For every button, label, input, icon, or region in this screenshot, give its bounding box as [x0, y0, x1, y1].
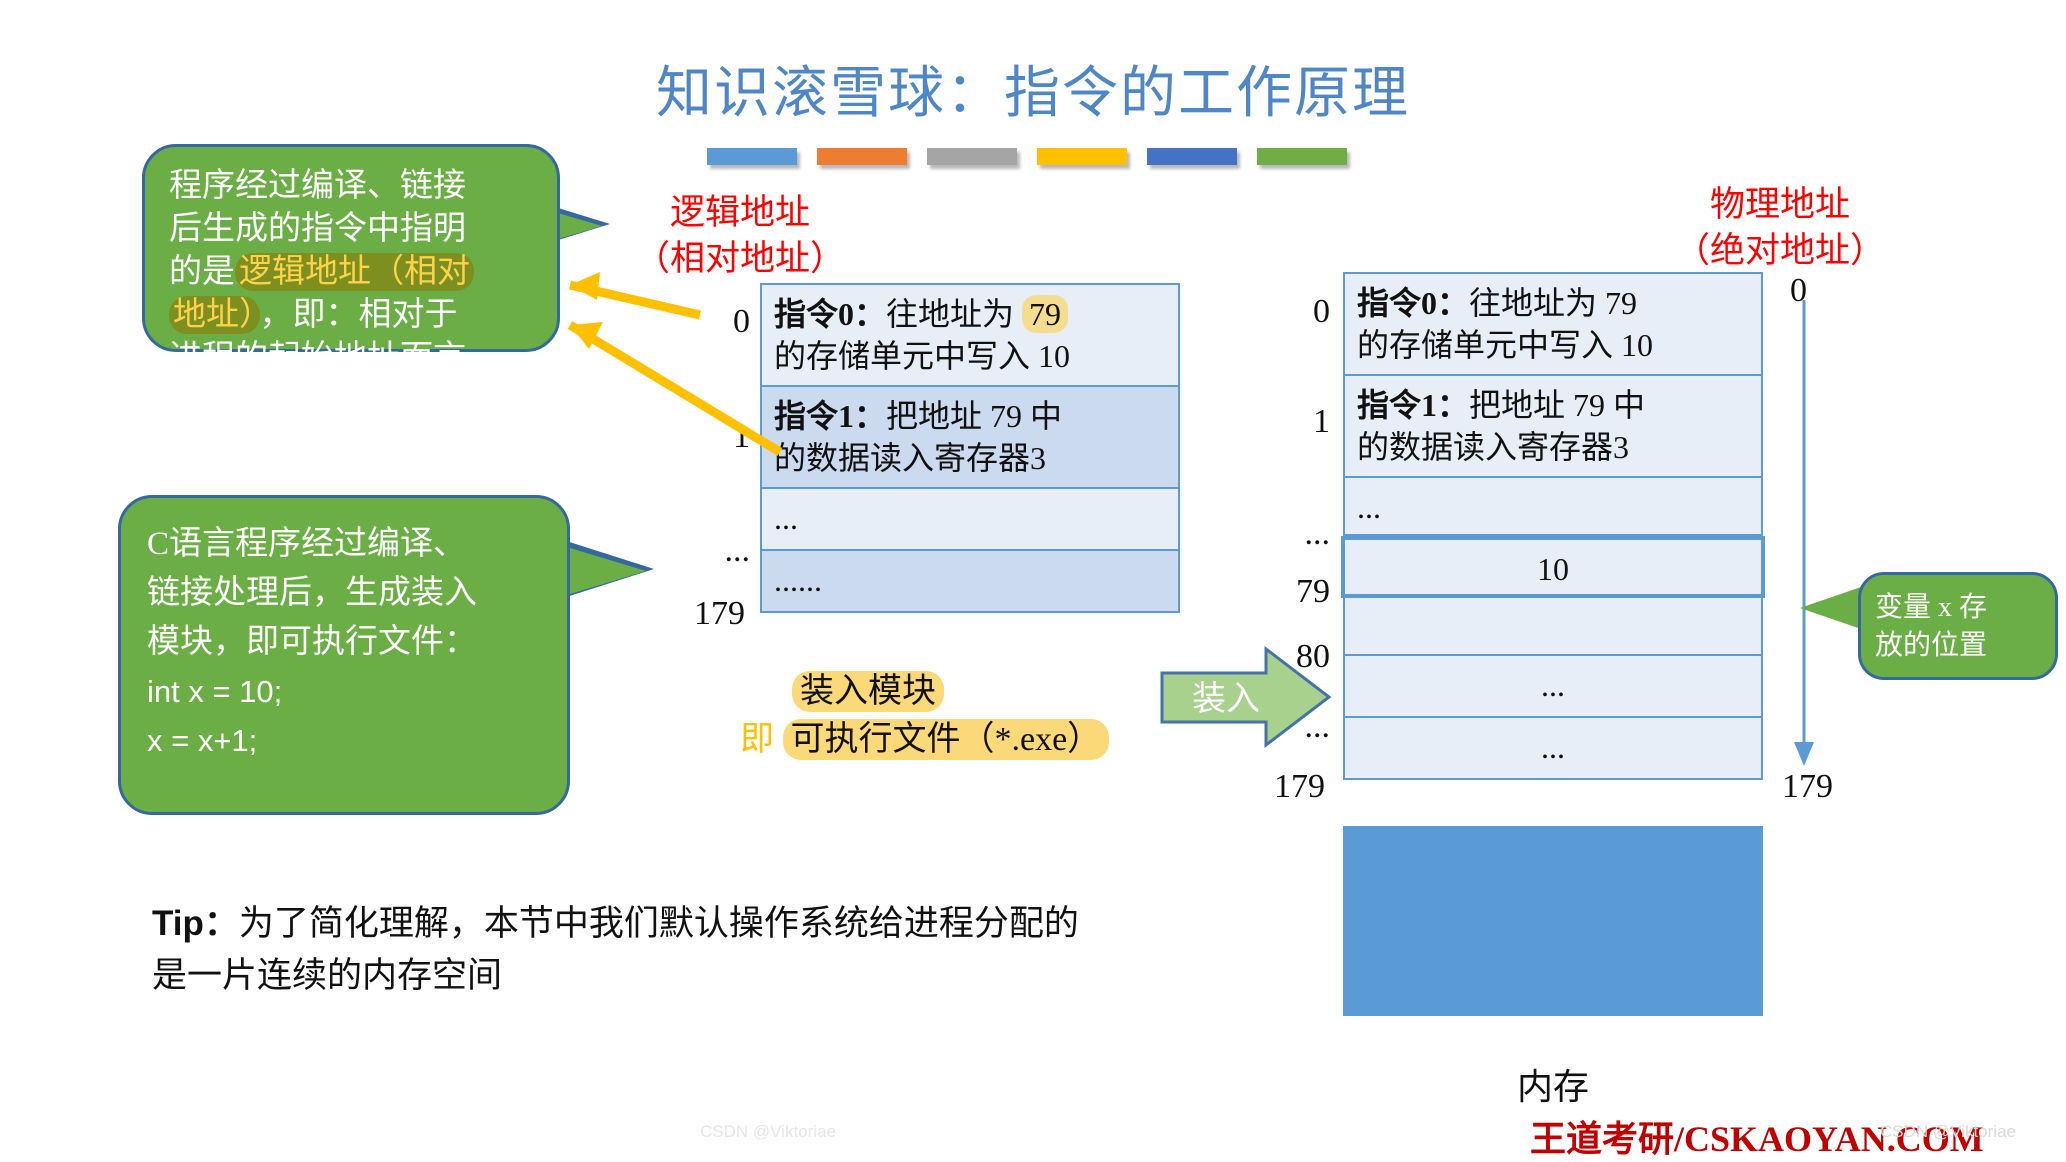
physical-index-79: 79 [1240, 573, 1330, 611]
logical-row0-line1: 指令0：往地址为 79 [774, 293, 1166, 335]
callout-clang-line3: 模块，即可执行文件： [147, 618, 557, 667]
callout-logical-address: 程序经过编译、链接 后生成的指令中指明 的是逻辑地址（相对 地址），即：相对于 … [142, 144, 560, 352]
physical-memory-table: 指令0：往地址为 79 的存储单元中写入 10 指令1：把地址 79 中 的数据… [1343, 272, 1763, 780]
address-range-arrow [1780, 300, 1840, 770]
physical-index-dots1: ... [1240, 515, 1330, 553]
tip-line2: 是一片连续的内存空间 [152, 950, 1212, 1002]
address-range-arrowhead [1794, 742, 1814, 766]
load-module-ji: 即 [740, 721, 774, 758]
bar-blue-light [707, 148, 797, 165]
callout-clang-code2: x = x+1; [147, 716, 557, 765]
physical-row1-instr: 指令1： [1357, 387, 1469, 423]
address-marker-bottom: 179 [1782, 768, 1833, 806]
physical-row3-value: 10 [1357, 548, 1749, 590]
label-physical-address: 物理地址 （绝对地址） [1660, 182, 1900, 274]
logical-row1-line1: 指令1：把地址 79 中 [774, 395, 1166, 437]
physical-index-0: 0 [1240, 293, 1330, 331]
page-title: 知识滚雪球：指令的工作原理 [0, 48, 2066, 129]
logical-row1-instr: 指令1： [774, 398, 886, 434]
physical-row0-instr: 指令0： [1357, 285, 1469, 321]
callout-logical-line1: 程序经过编译、链接 [169, 165, 549, 208]
physical-index-80: 80 [1240, 638, 1330, 676]
logical-row1-line2: 的数据读入寄存器3 [774, 437, 1166, 479]
logical-row2-text: ... [774, 497, 1166, 539]
label-physical-address-line1: 物理地址 [1660, 182, 1900, 228]
physical-row0-text-a: 往地址为 79 [1469, 285, 1637, 321]
callout-variable-tail [1800, 586, 1864, 630]
physical-row0-line2: 的存储单元中写入 10 [1357, 324, 1749, 366]
logical-address-table: 指令0：往地址为 79 的存储单元中写入 10 指令1：把地址 79 中 的数据… [760, 283, 1180, 613]
physical-row6-text: ... [1357, 726, 1749, 768]
callout-logical-highlight-b: 地址） [169, 296, 260, 334]
table-row: ...... [760, 551, 1180, 613]
table-row: 指令1：把地址 79 中 的数据读入寄存器3 [1343, 376, 1763, 478]
physical-index-1: 1 [1240, 403, 1330, 441]
load-module-text: 装入模块 即 可执行文件（*.exe） [740, 668, 1200, 764]
table-row: 指令0：往地址为 79 的存储单元中写入 10 [1343, 272, 1763, 376]
load-module-line2: 即 可执行文件（*.exe） [740, 716, 1200, 764]
label-physical-address-line2: （绝对地址） [1660, 228, 1900, 274]
callout-logical-line3-prefix: 的是 [169, 254, 235, 290]
load-module-line1: 装入模块 [792, 668, 1200, 716]
table-row: ... [1343, 656, 1763, 718]
callout-clang-text: C语言程序经过编译、 链接处理后，生成装入 模块，即可执行文件： int x =… [147, 520, 557, 765]
logical-index-179: 179 [655, 595, 745, 633]
callout-logical-highlight-a: 逻辑地址（相对 [235, 253, 474, 291]
tip-text: Tip：为了简化理解，本节中我们默认操作系统给进程分配的 是一片连续的内存空间 [152, 898, 1212, 1002]
memory-label: 内存 [1343, 1058, 1763, 1110]
logical-row1-text-a: 把地址 79 中 [886, 398, 1062, 434]
logical-row0-highlight: 79 [1022, 295, 1068, 333]
callout-variable-line2: 放的位置 [1875, 627, 2047, 665]
logical-index-0: 0 [660, 303, 750, 341]
bar-green [1257, 148, 1347, 165]
load-module-exe: 可执行文件（*.exe） [783, 719, 1110, 760]
logical-row0-text-a: 往地址为 [886, 296, 1022, 332]
callout-variable-line1: 变量 x 存 [1875, 589, 2047, 627]
callout-clang: C语言程序经过编译、 链接处理后，生成装入 模块，即可执行文件： int x =… [118, 495, 570, 815]
table-row: ... [760, 489, 1180, 551]
callout-logical-line5: 进程的起始地址而言 [169, 337, 549, 380]
label-logical-address: 逻辑地址 （相对地址） [620, 190, 860, 282]
bar-blue-dark [1147, 148, 1237, 165]
callout-logical-line6: 的地址 [169, 380, 549, 423]
callout-clang-code1: int x = 10; [147, 667, 557, 716]
watermark-faint-secondary: CSDN @Viktoriae [700, 1122, 836, 1142]
yellow-arrow-head-2 [570, 322, 603, 349]
logical-index-1: 1 [660, 418, 750, 456]
memory-free-block [1343, 826, 1763, 1016]
tip-line1-text: 为了简化理解，本节中我们默认操作系统给进程分配的 [239, 904, 1079, 943]
table-row [1343, 598, 1763, 656]
physical-row1-text-a: 把地址 79 中 [1469, 387, 1645, 423]
callout-clang-line1: C语言程序经过编译、 [147, 520, 557, 569]
callout-variable-text: 变量 x 存 放的位置 [1875, 589, 2047, 665]
logical-row3-text: ...... [774, 559, 1166, 601]
logical-index-dots: ... [660, 532, 750, 570]
tip-key: Tip： [152, 904, 239, 943]
callout-logical-line4: 地址），即：相对于 [169, 294, 549, 337]
logical-row0-instr: 指令0： [774, 296, 886, 332]
physical-row1-line2: 的数据读入寄存器3 [1357, 426, 1749, 468]
physical-row1-line1: 指令1：把地址 79 中 [1357, 384, 1749, 426]
callout-variable-x: 变量 x 存 放的位置 [1858, 572, 2058, 680]
watermark-faint: CSDN @Viktoriae [1880, 1122, 2016, 1142]
table-row: 指令0：往地址为 79 的存储单元中写入 10 [760, 283, 1180, 387]
logical-row0-line2: 的存储单元中写入 10 [774, 335, 1166, 377]
callout-logical-text: 程序经过编译、链接 后生成的指令中指明 的是逻辑地址（相对 地址），即：相对于 … [169, 165, 549, 423]
label-logical-address-line1: 逻辑地址 [620, 190, 860, 236]
slide-canvas: 知识滚雪球：指令的工作原理 程序经过编译、链接 后生成的指令中指明 的是逻辑地址… [0, 0, 2066, 1152]
callout-logical-line3: 的是逻辑地址（相对 [169, 251, 549, 294]
load-module-line1-text: 装入模块 [792, 671, 944, 712]
tip-line1: Tip：为了简化理解，本节中我们默认操作系统给进程分配的 [152, 898, 1212, 950]
callout-logical-line4-rest: ，即：相对于 [260, 297, 458, 333]
table-row-address-79: 10 [1341, 536, 1765, 598]
label-logical-address-line2: （相对地址） [620, 236, 860, 282]
bar-gold [1037, 148, 1127, 165]
title-underline-bars [707, 148, 1347, 168]
table-row: ... [1343, 718, 1763, 780]
physical-row5-text: ... [1357, 664, 1749, 706]
physical-index-dots2: ... [1240, 708, 1330, 746]
physical-row0-line1: 指令0：往地址为 79 [1357, 282, 1749, 324]
yellow-arrow-head-1 [570, 272, 600, 300]
callout-clang-line2: 链接处理后，生成装入 [147, 569, 557, 618]
bar-gray [927, 148, 1017, 165]
bar-orange [817, 148, 907, 165]
table-row: 指令1：把地址 79 中 的数据读入寄存器3 [760, 387, 1180, 489]
table-row: ... [1343, 478, 1763, 536]
physical-index-179: 179 [1235, 768, 1325, 806]
callout-logical-line2: 后生成的指令中指明 [169, 208, 549, 251]
physical-row2-text: ... [1357, 486, 1749, 528]
callout-clang-tail [560, 545, 646, 597]
